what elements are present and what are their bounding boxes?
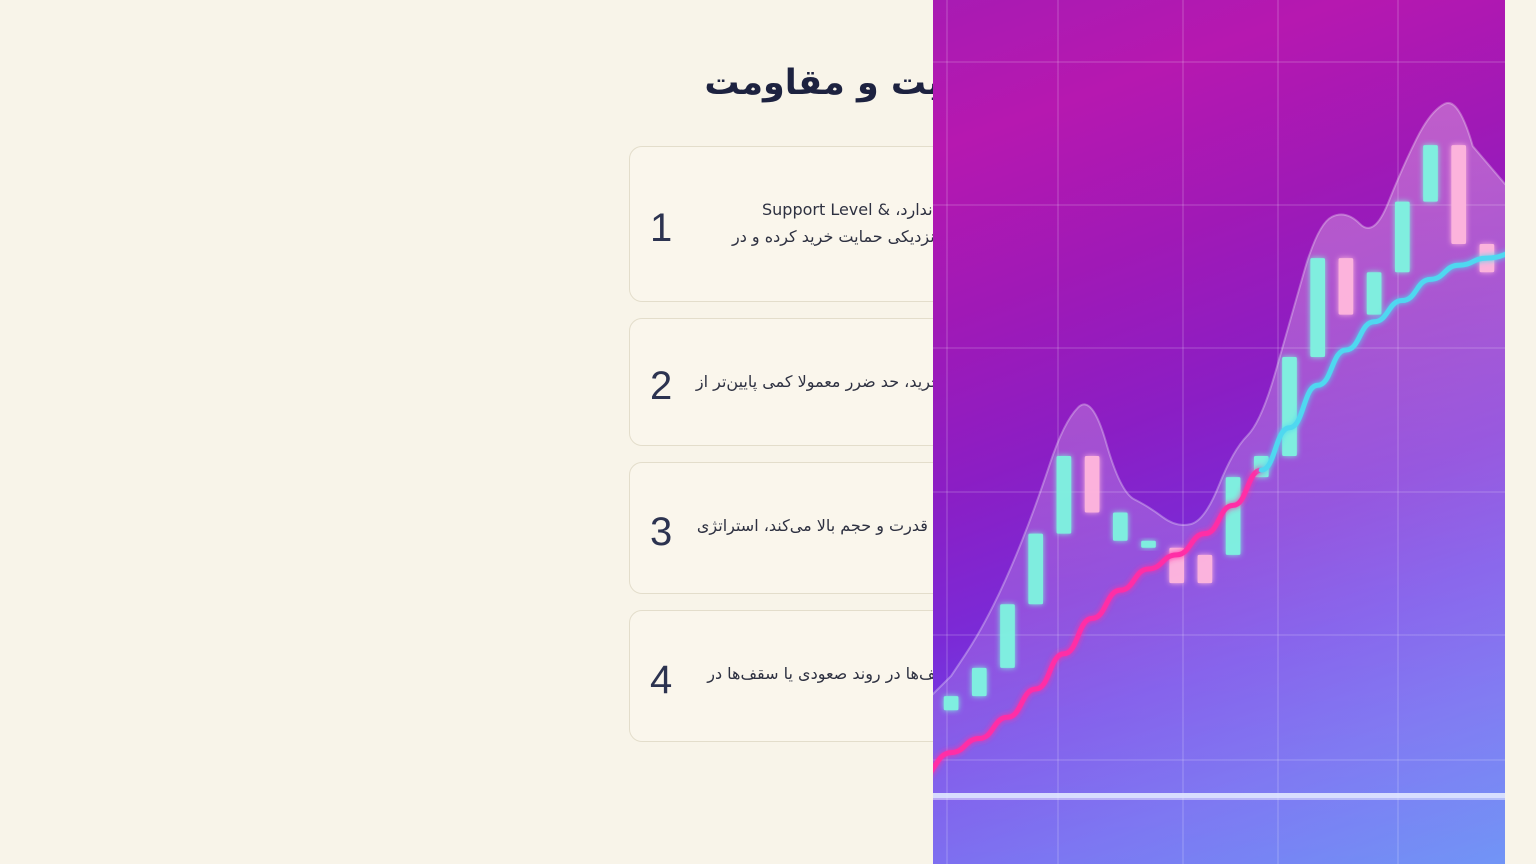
infographic-page: شکار فرصت‌ها با سطوح حمایت و مقاومت 1 مع…: [0, 0, 1536, 864]
candlestick-chart-panel: [933, 0, 1505, 864]
candlestick-chart-svg: [933, 0, 1505, 864]
right-edge-strip: [1505, 0, 1536, 864]
chart-divider: [933, 793, 1505, 800]
card-number-2: 2: [650, 366, 672, 406]
card-number-3: 3: [650, 512, 672, 552]
card-number-1: 1: [650, 208, 672, 248]
card-number-4: 4: [650, 660, 672, 700]
chart-area-fill: [933, 103, 1505, 864]
